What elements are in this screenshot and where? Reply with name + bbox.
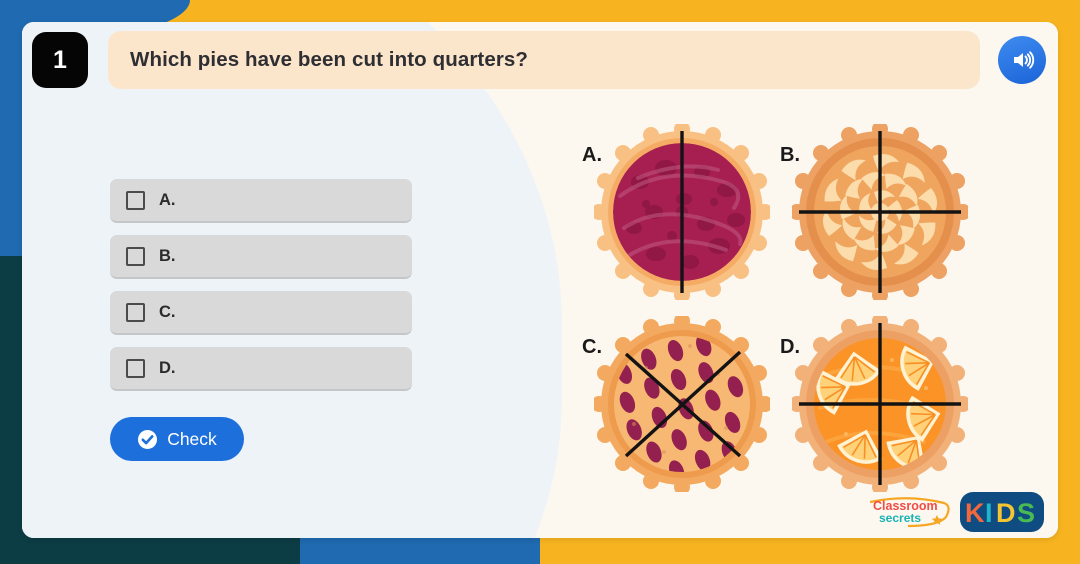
- option-c[interactable]: C.: [110, 291, 412, 335]
- check-circle-icon: [137, 429, 158, 450]
- question-number-badge: 1: [32, 32, 88, 88]
- pie-d-letter: D.: [780, 336, 800, 359]
- check-button[interactable]: Check: [110, 417, 244, 461]
- question-card: 1 Which pies have been cut into quarters…: [22, 22, 1058, 538]
- kids-letter-i: I: [985, 498, 993, 528]
- question-banner: Which pies have been cut into quarters?: [108, 31, 980, 89]
- checkbox-a[interactable]: [126, 191, 145, 210]
- pie-c-illustration: [594, 316, 770, 492]
- pie-c-letter: C.: [582, 336, 602, 359]
- kids-letter-k: K: [965, 498, 985, 528]
- classroom-secrets-logo: Classroom secrets: [868, 495, 952, 529]
- option-d[interactable]: D.: [110, 347, 412, 391]
- classroom-secrets-line2: secrets: [879, 511, 921, 525]
- pie-b-illustration: [792, 124, 968, 300]
- question-text: Which pies have been cut into quarters?: [130, 48, 528, 72]
- answer-options-list: A. B. C. D.: [110, 179, 412, 403]
- question-number-value: 1: [53, 46, 67, 75]
- pie-image-grid: A.: [542, 104, 1002, 494]
- checkbox-c[interactable]: [126, 303, 145, 322]
- pie-option-a: A.: [594, 124, 770, 305]
- option-a-label: A.: [159, 191, 176, 210]
- pie-b-letter: B.: [780, 144, 800, 167]
- pie-a-illustration: [594, 124, 770, 300]
- pie-option-b: B.: [792, 124, 968, 305]
- branding-logos: Classroom secrets K I D S: [868, 492, 1044, 532]
- option-d-label: D.: [159, 359, 176, 378]
- pie-a-letter: A.: [582, 144, 602, 167]
- kids-letter-d: D: [996, 498, 1016, 528]
- option-b[interactable]: B.: [110, 235, 412, 279]
- check-button-label: Check: [167, 429, 217, 450]
- pie-d-illustration: [792, 316, 968, 492]
- screen: 1 Which pies have been cut into quarters…: [0, 0, 1080, 564]
- pie-option-d: D.: [792, 316, 968, 497]
- checkbox-b[interactable]: [126, 247, 145, 266]
- pie-option-c: C.: [594, 316, 770, 497]
- kids-logo: K I D S: [960, 492, 1044, 532]
- kids-letter-s: S: [1017, 498, 1035, 528]
- option-c-label: C.: [159, 303, 176, 322]
- checkbox-d[interactable]: [126, 359, 145, 378]
- audio-play-button[interactable]: [998, 36, 1046, 84]
- option-b-label: B.: [159, 247, 176, 266]
- option-a[interactable]: A.: [110, 179, 412, 223]
- speaker-icon: [1009, 47, 1035, 73]
